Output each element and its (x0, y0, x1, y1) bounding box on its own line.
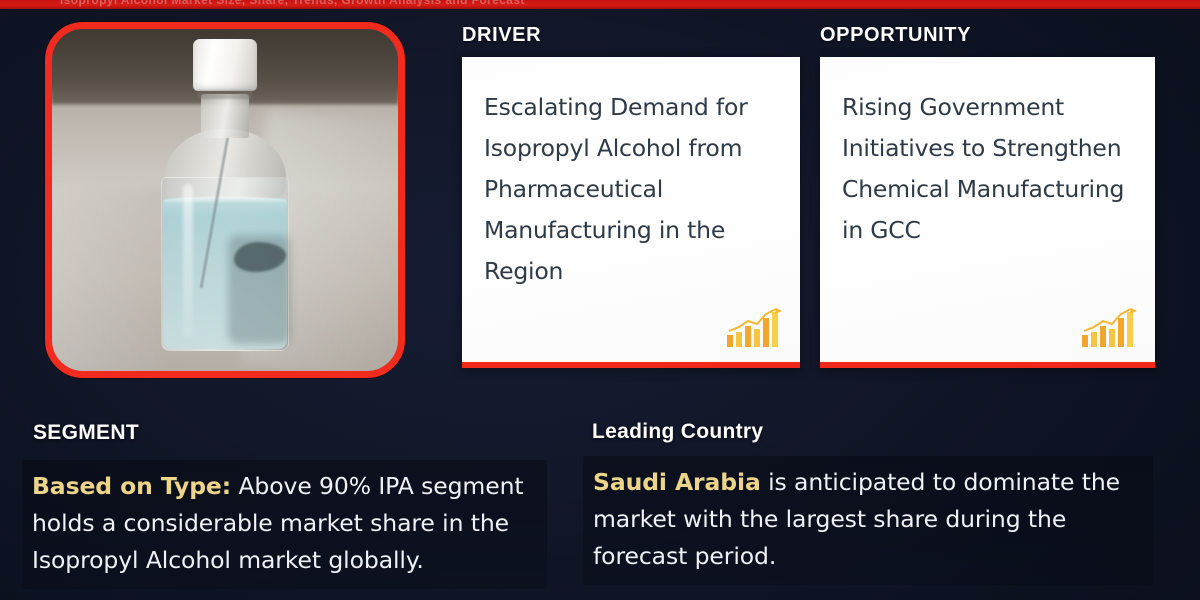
driver-heading: DRIVER (462, 24, 541, 47)
top-red-banner: Isopropyl Alcohol Market Size, Share, Tr… (0, 0, 1200, 9)
bottle-cap-ring (198, 90, 252, 99)
product-photo-frame (45, 22, 405, 378)
growth-bar-chart-icon (726, 308, 784, 348)
segment-heading: SEGMENT (33, 421, 139, 445)
segment-label: Based on Type: (32, 472, 231, 500)
banner-title: Isopropyl Alcohol Market Size, Share, Tr… (60, 0, 1160, 7)
bottle-graphic (150, 36, 300, 357)
isopropyl-alcohol-bottle-photo (52, 29, 398, 371)
leading-country-heading: Leading Country (592, 420, 763, 444)
bottle-cap (193, 39, 257, 91)
opportunity-card: Rising Government Initiatives to Strengt… (820, 57, 1155, 368)
infographic-page: Isopropyl Alcohol Market Size, Share, Tr… (0, 0, 1200, 600)
opportunity-card-text: Rising Government Initiatives to Strengt… (820, 57, 1155, 251)
driver-card-text: Escalating Demand for Isopropyl Alcohol … (462, 57, 800, 292)
opportunity-heading: OPPORTUNITY (820, 24, 971, 47)
driver-card: Escalating Demand for Isopropyl Alcohol … (462, 57, 800, 368)
segment-body: Based on Type: Above 90% IPA segment hol… (22, 460, 547, 589)
bottle-neck (201, 94, 249, 138)
bottle-liquid-surface (163, 197, 287, 205)
leading-country-body: Saudi Arabia is anticipated to dominate … (583, 456, 1153, 585)
bottle-highlight (183, 184, 193, 338)
growth-bar-chart-icon (1081, 308, 1139, 348)
leading-country-label: Saudi Arabia (593, 468, 761, 496)
